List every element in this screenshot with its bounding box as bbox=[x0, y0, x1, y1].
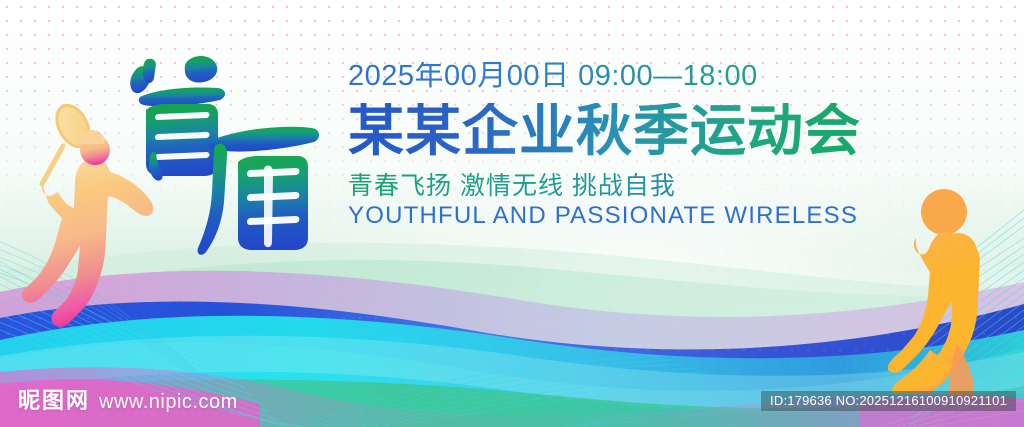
watermark-site-name-cn: 昵图网 bbox=[18, 383, 90, 415]
badminton-player-silhouette bbox=[18, 96, 168, 336]
slogan-english: YOUTHFUL AND PASSIONATE WIRELESS bbox=[348, 203, 968, 229]
asset-id-tag: ID:179636 NO:20251216100910921101 bbox=[761, 391, 1016, 411]
event-title: 某某企业秋季运动会 bbox=[348, 103, 968, 159]
headline-block: 2025年00月00日 09:00—18:00 某某企业秋季运动会 青春飞扬 激… bbox=[348, 62, 968, 229]
calligraphy-char-jie bbox=[196, 118, 326, 258]
poster-canvas: 2025年00月00日 09:00—18:00 某某企业秋季运动会 青春飞扬 激… bbox=[0, 0, 1024, 427]
event-date-line: 2025年00月00日 09:00—18:00 bbox=[348, 62, 968, 91]
calligraphy-char-shou bbox=[120, 52, 240, 182]
watermark-site-url: www.nipic.com bbox=[99, 391, 238, 414]
slogan-chinese: 青春飞扬 激情无线 挑战自我 bbox=[348, 173, 968, 201]
site-watermark: 昵图网 www.nipic.com bbox=[18, 383, 238, 415]
